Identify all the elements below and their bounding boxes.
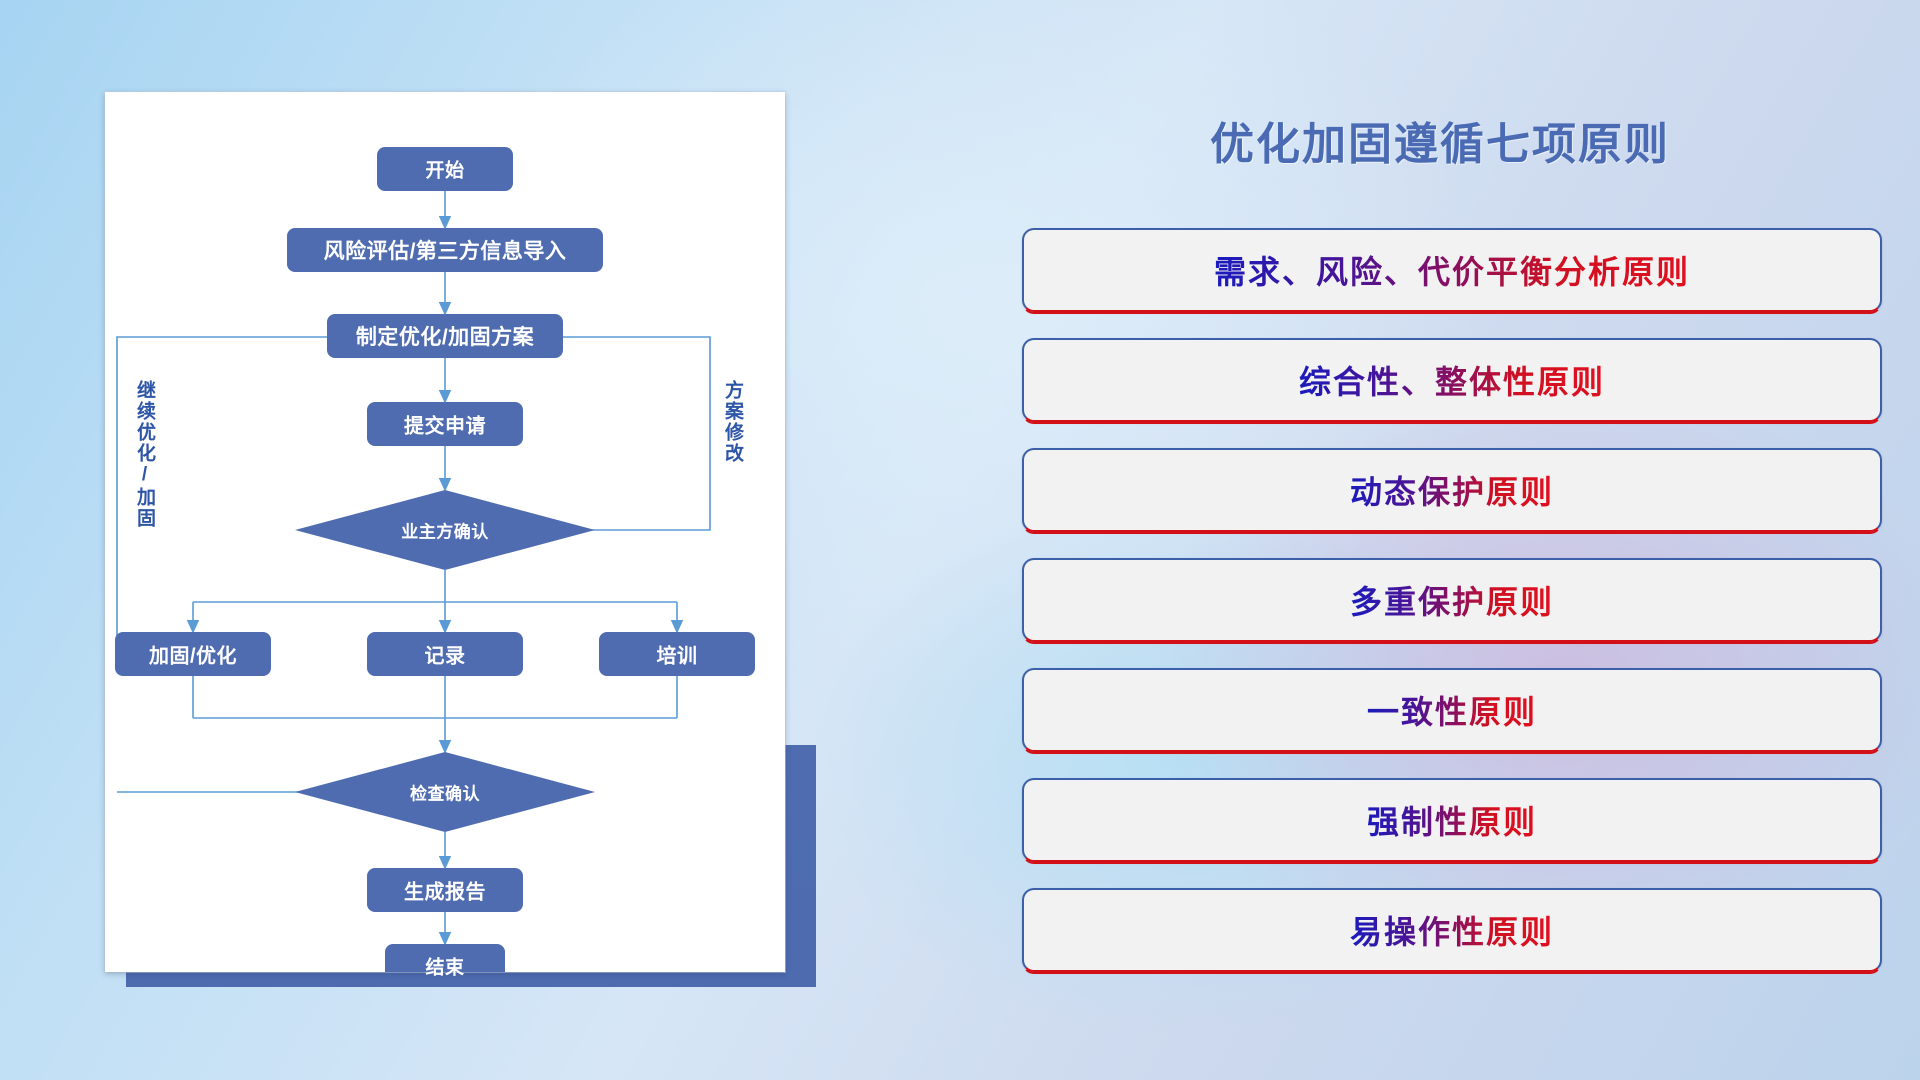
principles-panel: 优化加固遵循七项原则 需求、风险、代价平衡分析原则 综合性、整体性原则 动态保护… [1000, 0, 1920, 1080]
flow-edge-label-continue-optimize: 继续优化/加固 [135, 380, 154, 529]
principle-label: 需求、风险、代价平衡分析原则 [1214, 247, 1690, 293]
flowchart-diagram [105, 92, 785, 972]
page-title: 优化加固遵循七项原则 [1000, 108, 1880, 172]
principles-list: 需求、风险、代价平衡分析原则 综合性、整体性原则 动态保护原则 多重保护原则 一… [1022, 228, 1882, 998]
principle-item-2[interactable]: 综合性、整体性原则 [1022, 338, 1882, 422]
principle-item-4[interactable]: 多重保护原则 [1022, 558, 1882, 642]
principle-label: 强制性原则 [1367, 797, 1537, 843]
flowchart-card: 开始 风险评估/第三方信息导入 制定优化/加固方案 提交申请 业主方确认 加固/… [105, 92, 785, 972]
principle-item-7[interactable]: 易操作性原则 [1022, 888, 1882, 972]
principle-item-6[interactable]: 强制性原则 [1022, 778, 1882, 862]
principle-label: 动态保护原则 [1350, 467, 1554, 513]
principle-label: 易操作性原则 [1350, 907, 1554, 953]
principle-label: 综合性、整体性原则 [1299, 357, 1605, 403]
principle-label: 多重保护原则 [1350, 577, 1554, 623]
principle-item-1[interactable]: 需求、风险、代价平衡分析原则 [1022, 228, 1882, 312]
flowchart-panel: 开始 风险评估/第三方信息导入 制定优化/加固方案 提交申请 业主方确认 加固/… [0, 0, 900, 1080]
flow-edge-label-plan-revision: 方案修改 [723, 380, 742, 464]
principle-item-3[interactable]: 动态保护原则 [1022, 448, 1882, 532]
principle-item-5[interactable]: 一致性原则 [1022, 668, 1882, 752]
principle-label: 一致性原则 [1367, 687, 1537, 733]
